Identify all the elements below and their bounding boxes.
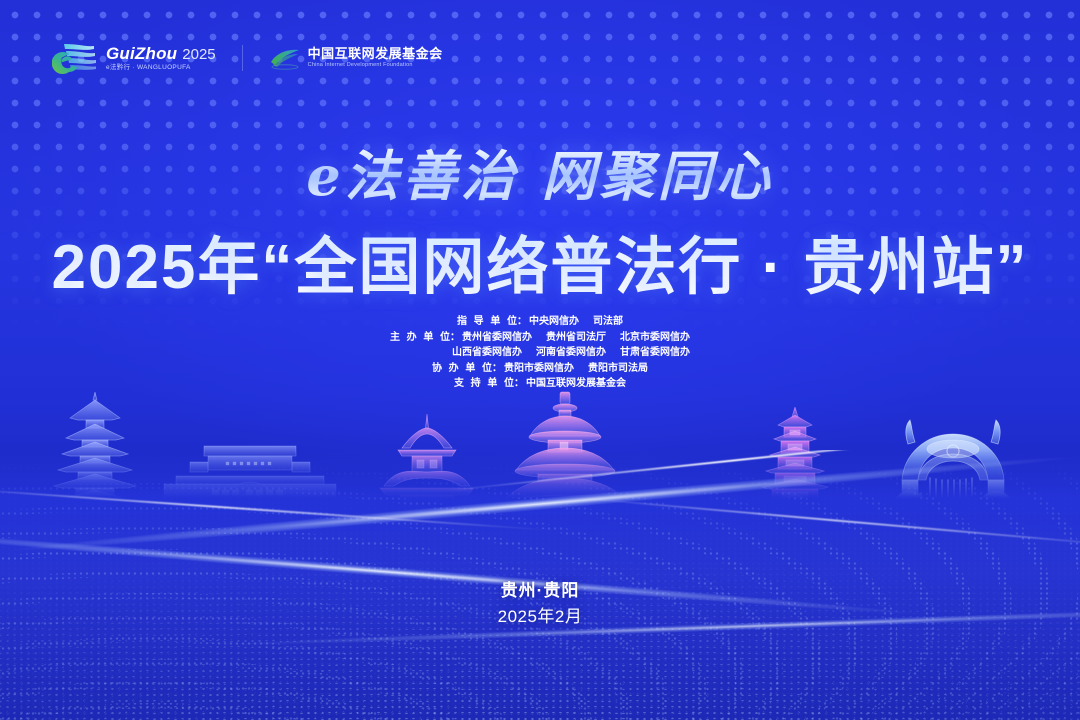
credit-value: 北京市委网信办 bbox=[620, 332, 690, 343]
foundation-logo: 中国互联网发展基金会 China Internet Development Fo… bbox=[269, 46, 443, 70]
event-location-block: 贵州·贵阳 2025年2月 bbox=[0, 578, 1080, 631]
event-city: 贵州·贵阳 bbox=[0, 578, 1080, 604]
guizhou-logo-subtitle: e法黔行 · WANGLUOPUFA bbox=[106, 65, 216, 72]
logo-divider bbox=[242, 45, 243, 71]
credit-label: 指导单位 bbox=[457, 314, 517, 330]
foundation-logo-text: 中国互联网发展基金会 China Internet Development Fo… bbox=[308, 47, 443, 69]
credit-value: 河南省委网信办 bbox=[536, 347, 606, 358]
cidf-wave-logo-icon bbox=[269, 46, 301, 70]
credit-value: 山西省委网信办 bbox=[452, 347, 522, 358]
credit-label: 主办单位 bbox=[390, 330, 450, 346]
foundation-name-cn: 中国互联网发展基金会 bbox=[308, 47, 443, 60]
credit-colon: ： bbox=[517, 314, 527, 330]
credit-value: 贵州省司法厅 bbox=[546, 332, 606, 343]
guizhou-logo-name: GuiZhou bbox=[106, 45, 177, 62]
credit-value: 贵州省委网信办 bbox=[462, 332, 532, 343]
slogan-calligraphy: e法善治 网聚同心 bbox=[306, 132, 773, 211]
page-title: 2025年“全国网络普法行 · 贵州站” bbox=[0, 216, 1080, 306]
header-logo-bar: GuiZhou 2025 e法黔行 · WANGLUOPUFA bbox=[52, 40, 443, 76]
guizhou-logo: GuiZhou 2025 e法黔行 · WANGLUOPUFA bbox=[52, 40, 216, 76]
credit-colon: ： bbox=[450, 330, 460, 346]
e-swoosh-logo-icon bbox=[52, 40, 98, 76]
credit-row: 山西省委网信办河南省委网信办甘肃省委网信办 bbox=[390, 345, 690, 361]
credit-value: 司法部 bbox=[593, 316, 623, 327]
credit-value: 中央网信办 bbox=[529, 316, 579, 327]
credit-row: 主办单位 ： 贵州省委网信办贵州省司法厅北京市委网信办 bbox=[390, 330, 690, 346]
guizhou-logo-text: GuiZhou 2025 e法黔行 · WANGLUOPUFA bbox=[106, 45, 216, 72]
poster-canvas: GuiZhou 2025 e法黔行 · WANGLUOPUFA bbox=[0, 0, 1080, 720]
guizhou-logo-year: 2025 bbox=[182, 47, 215, 62]
credit-row: 指导单位 ： 中央网信办司法部 bbox=[457, 314, 623, 330]
credit-values: 山西省委网信办河南省委网信办甘肃省委网信办 bbox=[452, 345, 690, 361]
credit-value: 甘肃省委网信办 bbox=[620, 347, 690, 358]
credit-values: 中央网信办司法部 bbox=[529, 314, 623, 330]
foundation-name-en: China Internet Development Foundation bbox=[308, 63, 443, 69]
event-date: 2025年2月 bbox=[0, 604, 1080, 630]
credit-values: 贵州省委网信办贵州省司法厅北京市委网信办 bbox=[462, 330, 690, 346]
slogan-block: e法善治 网聚同心 bbox=[0, 132, 1080, 211]
